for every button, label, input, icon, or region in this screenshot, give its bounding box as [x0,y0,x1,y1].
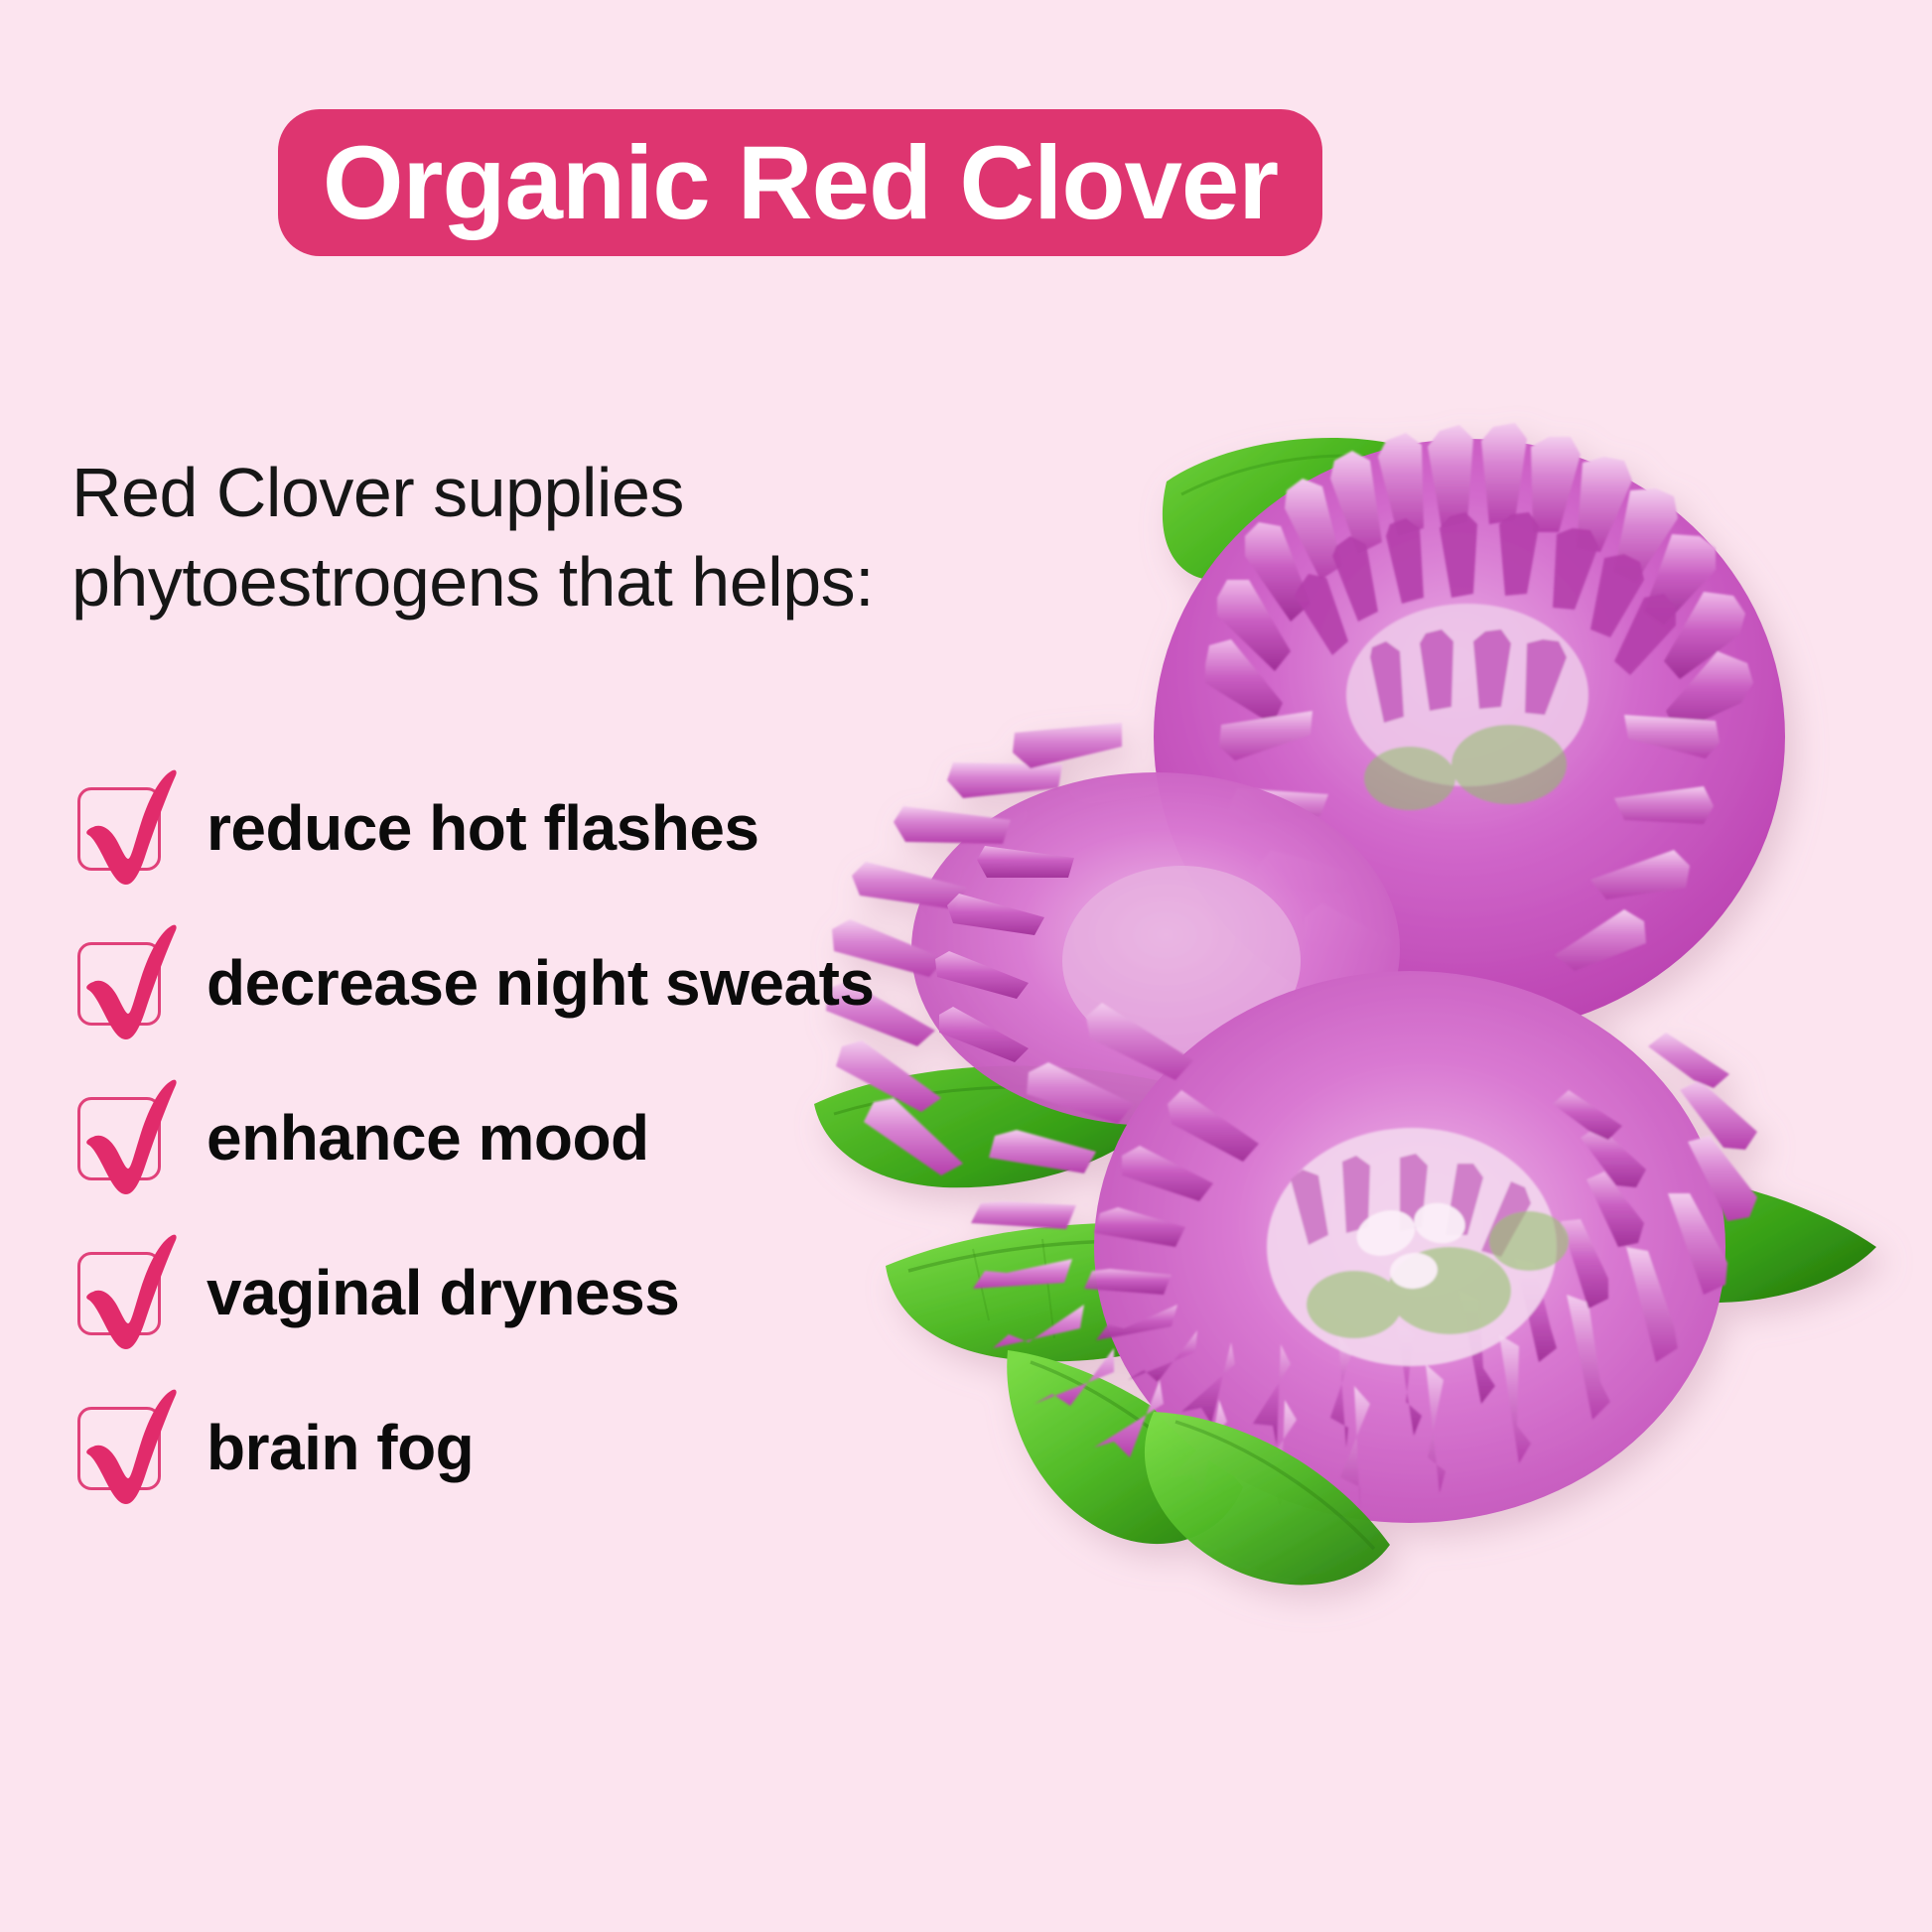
benefit-label: enhance mood [207,1106,649,1170]
clover-head-bottom [971,971,1757,1523]
checkbox-checked-icon [71,934,169,1032]
intro-line-2: phytoestrogens that helps: [71,538,945,627]
clover-head-top [1154,423,1785,1035]
check-icon [71,920,181,1032]
check-icon [71,1230,181,1341]
checkbox-checked-icon [71,779,169,877]
leaf-upper [1163,438,1426,580]
list-item: enhance mood [71,1074,1064,1201]
checkbox-checked-icon [71,1089,169,1186]
benefits-list: reduce hot flashes decrease night sweats… [71,764,1064,1511]
benefit-label: decrease night sweats [207,951,874,1015]
benefit-label: reduce hot flashes [207,796,759,860]
list-item: decrease night sweats [71,919,1064,1046]
title-banner: Organic Red Clover [278,109,1322,256]
page-title: Organic Red Clover [323,131,1278,235]
check-icon [71,1385,181,1496]
infographic-canvas: Organic Red Clover Red Clover supplies p… [0,0,1932,1932]
check-icon [71,765,181,877]
check-icon [71,1075,181,1186]
list-item: brain fog [71,1384,1064,1511]
checkbox-checked-icon [71,1244,169,1341]
leaf-right [1536,1170,1876,1304]
benefit-label: brain fog [207,1416,474,1479]
list-item: reduce hot flashes [71,764,1064,892]
checkbox-checked-icon [71,1399,169,1496]
intro-paragraph: Red Clover supplies phytoestrogens that … [71,449,945,626]
leaf-front-bottom [1145,1412,1390,1585]
intro-line-1: Red Clover supplies [71,449,945,538]
benefit-label: vaginal dryness [207,1261,679,1324]
list-item: vaginal dryness [71,1229,1064,1356]
